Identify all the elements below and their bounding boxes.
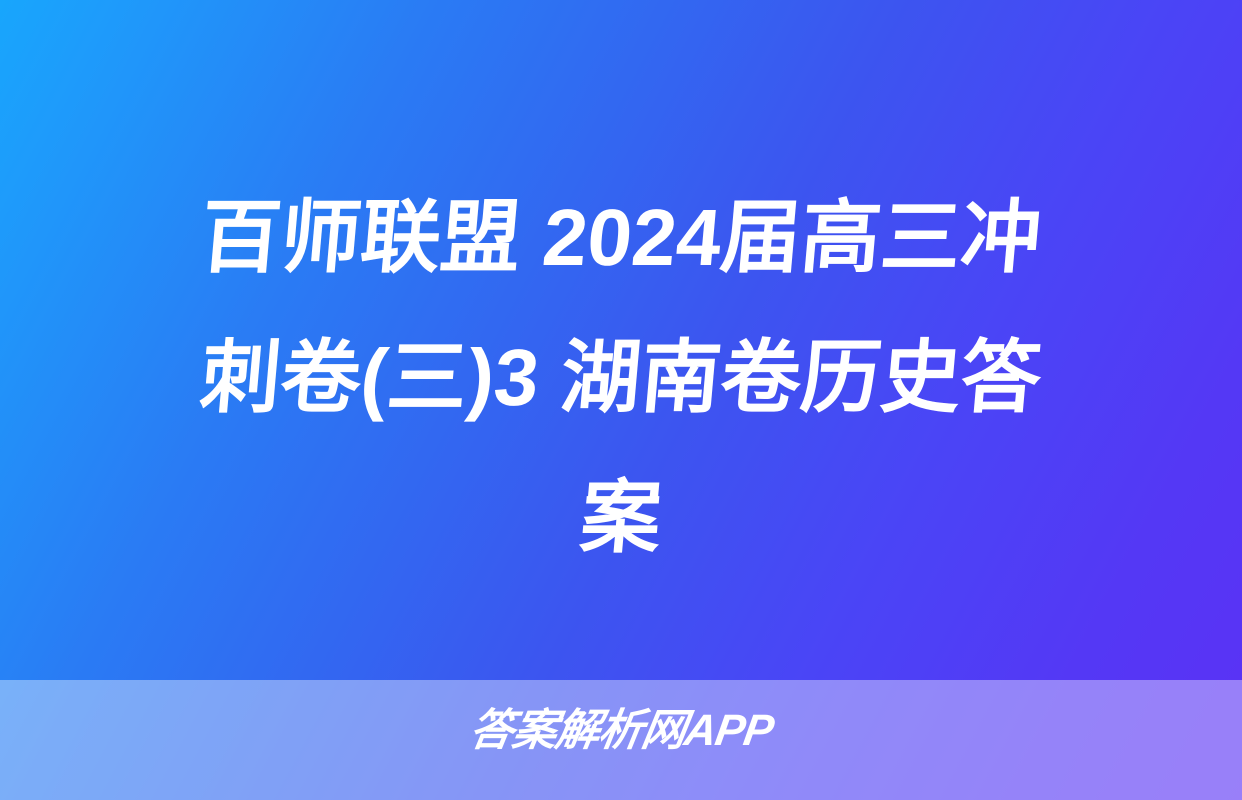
page-title: 百师联盟 2024届高三冲 刺卷(三)3 湖南卷历史答 案 bbox=[0, 168, 1242, 588]
title-line-2: 刺卷(三)3 湖南卷历史答 bbox=[66, 308, 1176, 448]
answer-card-image: 百师联盟 2024届高三冲 刺卷(三)3 湖南卷历史答 案 答案解析网APP bbox=[0, 0, 1242, 800]
watermark-label: 答案解析网APP bbox=[466, 706, 776, 756]
title-line-1: 百师联盟 2024届高三冲 bbox=[66, 168, 1176, 308]
watermark: 答案解析网APP bbox=[0, 706, 1242, 756]
title-line-3: 案 bbox=[66, 448, 1176, 588]
